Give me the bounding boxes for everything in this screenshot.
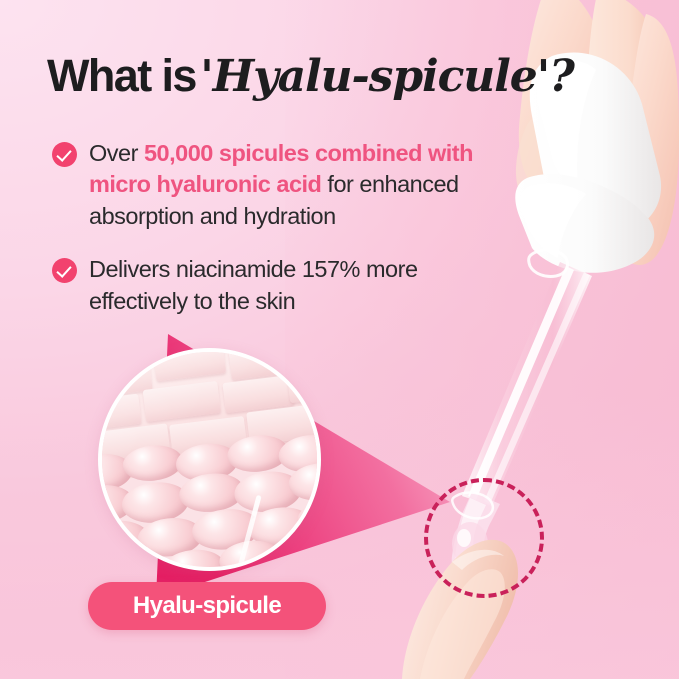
check-circle-icon [52,258,77,283]
benefit-text-1: Over 50,000 spicules combined with micro… [89,138,522,232]
magnifier-content [102,352,317,567]
spicule-sphere-layer [98,428,321,571]
list-item: Over 50,000 spicules combined with micro… [52,138,522,232]
benefit-text-2: Delivers niacinamide 157% more effective… [89,254,522,317]
badge-label: Hyalu-spicule [133,592,281,620]
check-circle-icon [52,142,77,167]
benefit-segment: Over [89,140,144,166]
headline-italic: 'Hyalu-spicule'? [200,51,573,102]
infographic-poster: What is 'Hyalu-spicule'? Over 50,000 spi… [0,0,679,679]
dropper-tip-highlight-circle [424,478,544,598]
spicule-cross-section-magnifier [98,348,321,571]
headline-plain: What is [47,50,196,101]
page-title: What is 'Hyalu-spicule'? [47,52,574,101]
status-badge: Hyalu-spicule [88,582,326,630]
benefit-segment: Delivers niacinamide 157% more effective… [89,256,418,313]
list-item: Delivers niacinamide 157% more effective… [52,254,522,317]
benefit-list: Over 50,000 spicules combined with micro… [52,138,522,339]
